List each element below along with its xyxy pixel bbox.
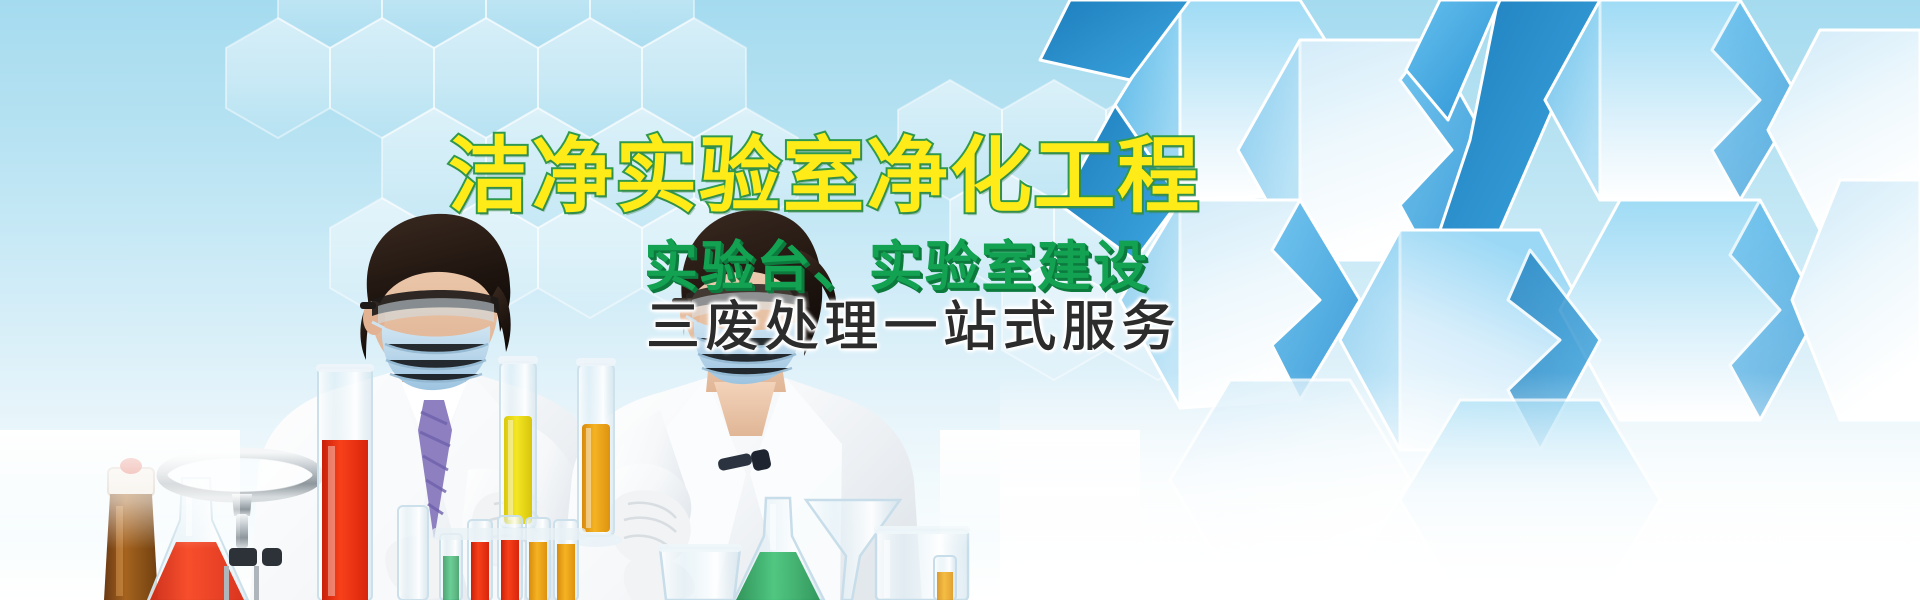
hero-banner: 洁净实验室净化工程 实验台、实验室建设 三废处理一站式服务 (0, 0, 1920, 600)
amber-test-tube (570, 358, 622, 547)
lab-scientists-photo (0, 0, 1920, 600)
test-tube-rack (432, 516, 586, 600)
yellow-test-tube (498, 356, 538, 528)
clear-beaker (658, 544, 742, 600)
clear-test-tube (398, 506, 428, 600)
tall-red-graduated-cylinder (316, 364, 374, 600)
